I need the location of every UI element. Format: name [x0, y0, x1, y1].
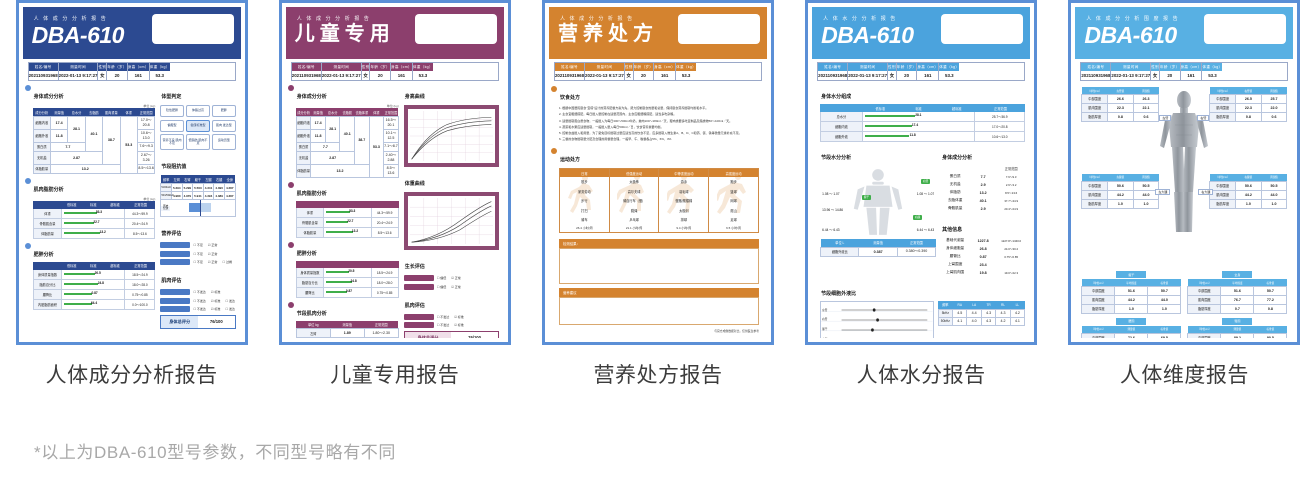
- bar-range: 18.5～24.9: [372, 270, 398, 275]
- bottom-left-title: 躯干: [1116, 271, 1146, 278]
- bottom-right-title: 全身: [1222, 271, 1252, 278]
- bar-label: 体脂肪量: [297, 228, 323, 237]
- bar-range: 0.0～100.0: [125, 302, 154, 307]
- ecw-ratio-chart: [821, 302, 932, 338]
- info-head-height: 身高（cm）: [391, 63, 412, 71]
- bar-row: 脂肪百分比24.818.0～28.0: [296, 278, 399, 288]
- table-row: 无机盐2.872.40～2.88: [296, 151, 398, 164]
- cell-weight: 53.3: [120, 116, 137, 173]
- cell-range: 17.0～20.8: [137, 116, 154, 129]
- bar-range: 20.4～24.9: [125, 221, 154, 226]
- col-1: 测量值: [330, 321, 364, 329]
- table-row: 50/250kHz 4.980 4.979 5.941 4.394 4.389 …: [161, 192, 235, 200]
- cell-value: 1.89: [330, 329, 364, 338]
- bar-row: 骨骼肌含量22.720.4～24.9: [33, 219, 156, 229]
- col-rl: 右腿: [214, 175, 225, 183]
- eval-row: ☐ 偏低☑ 正常: [404, 275, 499, 281]
- bar-label: 骨骼肌含量: [34, 219, 62, 228]
- cell-value: 26.8: [969, 245, 997, 253]
- cell-value: 7.7: [969, 173, 997, 181]
- cell-value: 0.87: [969, 253, 997, 261]
- col-0: （单位cm）: [1082, 87, 1108, 94]
- info-head-sex: 性别: [362, 63, 370, 71]
- bar-value: 22.7: [93, 220, 99, 224]
- info-head-name: 姓名/编号: [818, 63, 847, 71]
- info-head-name: 姓名/编号: [292, 63, 321, 71]
- eval-options[interactable]: ☐ 不足☑ 正常: [193, 252, 217, 256]
- section-title-nutrition-eval: 营养评估: [160, 231, 181, 237]
- left-arm-table: （单位cm）左臂值周围值 中部围度26.626.3 肌肉围度22.322.1 脂…: [1081, 87, 1159, 122]
- bar-range: 18.0～28.0: [372, 280, 398, 285]
- info-val-weight: 53.3: [939, 71, 959, 79]
- cell-label: 无机盐: [33, 151, 50, 164]
- table-row: 脂肪厚度0.80.6: [1210, 112, 1287, 121]
- eval-options[interactable]: ☐ 不足☑ 正常☐ 过剩: [193, 260, 232, 264]
- result-bar: 检测结果：: [559, 239, 759, 248]
- table-header-row: （单位cm）测量值标准值: [1188, 326, 1287, 333]
- bar-track: 64.4: [61, 300, 125, 309]
- eval-options[interactable]: ☐ 偏低☑ 正常: [437, 285, 461, 289]
- cell-v: 5.299: [182, 184, 193, 192]
- cell-range: 10.1～12.5: [384, 129, 399, 142]
- bar-value: 22.7: [347, 219, 353, 223]
- section-title-obesity: 肥胖分析: [33, 252, 54, 258]
- bar-col-2: 标准: [83, 262, 105, 270]
- bar-col-3: 超标准: [938, 104, 976, 112]
- cell-v1: 44.2: [1236, 190, 1262, 199]
- body-figure-3d: [1153, 89, 1215, 244]
- col-0: （单位cm）: [1188, 279, 1221, 286]
- water-bar-header: 低标准 标准 超标准 正常范围: [820, 104, 1025, 112]
- card1-logo-placeholder: [152, 14, 234, 44]
- report-card-body-water[interactable]: 人 体 水 分 分 析 报 告 DBA-610 姓名/编号20211093196…: [805, 0, 1037, 345]
- eval-row: ☐ 偏低☑ 正常: [404, 284, 499, 290]
- info-val-age: 20: [897, 71, 916, 79]
- info-head-weight: 体重（kg）: [1202, 63, 1222, 71]
- table-row: 中部围度72.669.5: [1082, 333, 1181, 338]
- section-title-composition-right: 身体成分分析: [941, 155, 972, 161]
- bar-row: 内脏脂肪面积64.40.0～100.0: [33, 300, 156, 310]
- exercise-item: 乒乓球: [610, 215, 659, 224]
- cell-lbm: 38.7: [355, 116, 370, 164]
- report-card-children[interactable]: 人 体 成 分 分 析 报 告 儿童专用 姓名/编号202110931968 测…: [279, 0, 511, 345]
- impedance-table-water: 频率RALATRRLLL 5kHz4.54.44.34.34.2 50kHz4.…: [938, 301, 1026, 326]
- right-arm-table: （单位cm）右臂值周围值 中部围度26.525.7 肌肉围度22.322.0 脂…: [1209, 87, 1287, 122]
- report-slot-2: 人 体 成 分 分 析 报 告 儿童专用 姓名/编号202110931968 测…: [263, 0, 526, 352]
- info-val-time: 2022-01-13 9:17:27: [848, 71, 887, 79]
- col-2: 标准值: [1148, 279, 1181, 286]
- exercise-item: 高尔夫球: [610, 187, 659, 196]
- bar-col-4: 正常范围: [126, 262, 155, 270]
- bar-track: 20.5: [61, 270, 125, 279]
- exercise-duration: 9.4 小时/周: [659, 224, 708, 232]
- cell-v2: 50.7: [1254, 286, 1287, 295]
- eval-options[interactable]: ☐ 不发达☑ 标准: [193, 290, 220, 294]
- advice-line: 4. 蔬菜和水果应适量摄取，一般摄入量入每日500ml／日，饮食营养素要均衡。: [559, 125, 759, 130]
- section-title-composition: 身体成分分析: [296, 94, 327, 100]
- children-obesity-header: [296, 261, 399, 268]
- cell-label: 脂肪厚度: [1082, 304, 1115, 313]
- bar-track: 53.3: [323, 208, 371, 217]
- col-0: （单位cm）: [1082, 174, 1108, 181]
- cell-label: 无机盐: [941, 181, 969, 189]
- col-0: 成分分析: [296, 108, 311, 116]
- table-row: 肌肉围度76.777.2: [1188, 295, 1287, 304]
- type-cell[interactable]: 隐性肥胖: [160, 105, 183, 117]
- bar-value: 0.87: [92, 291, 98, 295]
- cell-range: 16.5～20.1: [384, 116, 399, 129]
- col-2: 标准值: [1148, 326, 1181, 333]
- bar-label: 体重: [34, 209, 62, 218]
- cell-label: 去脂体重: [941, 197, 969, 205]
- type-cell[interactable]: 营养不良 肌肉不足: [160, 134, 183, 150]
- bar-track: 13.2: [61, 229, 125, 238]
- cell-range: 10.6～13.0: [137, 129, 154, 142]
- table-header-row: （单位cm）右腿值周围值: [1210, 174, 1287, 181]
- muscle-fat-bar-header: 低标准 标准 超标准 正常范围: [33, 201, 156, 209]
- col-4: 肌肉重量: [103, 108, 120, 116]
- bar-row: 身体质量指数20.518.5～24.9: [33, 270, 156, 280]
- info-val-height: 161: [1181, 71, 1202, 79]
- cell-v1: 51.6: [1221, 286, 1254, 295]
- bar-col-3: 超标准: [104, 262, 126, 270]
- caption-row: 人体成分分析报告 儿童专用报告 营养处方报告 人体水分报告 人体维度报告: [0, 352, 1316, 400]
- table-header-row: 单位 L测量值正常范围: [821, 239, 936, 247]
- col-1: 测量值: [50, 108, 67, 116]
- ecw-table: 单位 L测量值正常范围 细胞外液比0.3870.380～0.390: [820, 239, 936, 257]
- section-dot-diet: [551, 86, 557, 92]
- info-head-name: 姓名/编号: [555, 63, 584, 71]
- col-0: 频率: [938, 301, 952, 309]
- label-right-leg: 右大腿: [1198, 189, 1213, 195]
- cell-label: 细胞外液: [296, 129, 311, 142]
- table-row: 肌肉围度44.244.0: [1082, 190, 1159, 199]
- table-row: 体脂肪13.28.5～13.6: [941, 189, 1025, 197]
- cell-v1: 22.3: [1236, 103, 1262, 112]
- section-title-muscle-fat: 肌肉脂肪分析: [296, 191, 327, 197]
- cell-v: 4.287: [224, 184, 235, 192]
- section-dot-segment-muscle: [288, 302, 294, 308]
- eval-tag: [160, 251, 190, 257]
- info-val-name: 202110931968: [1081, 71, 1110, 79]
- section-title-muscle-eval: 肌肉评估: [404, 303, 425, 309]
- bar-range: 44.3～59.9: [372, 210, 398, 215]
- trunk-table: （单位cm）平均围度标准值 中部围度51.650.7 肌肉围度44.244.0 …: [1081, 279, 1181, 314]
- bar-col-1: 低标准: [861, 104, 899, 112]
- type-cell[interactable]: 体脂过高: [186, 105, 209, 117]
- cell-label: 蛋白质: [296, 142, 311, 151]
- type-cell[interactable]: 运动员型: [212, 134, 235, 150]
- table-row: 脂肪厚度0.70.8: [1188, 304, 1287, 313]
- cell-v1: 1.0: [1108, 199, 1134, 208]
- col-1: 测量值: [1221, 326, 1254, 333]
- info-val-height: 161: [391, 71, 412, 79]
- bar-col-1: 低标准: [61, 201, 83, 209]
- col-3: TR: [981, 301, 995, 309]
- type-cell-selected[interactable]: 健康标准型: [186, 120, 209, 132]
- result-box: [559, 248, 759, 284]
- value-right-leg: 6.44 ～ 6.43: [917, 227, 934, 232]
- cell-label: 上臂肌肉围: [941, 269, 969, 277]
- bar-range: 0.75～0.85: [372, 290, 398, 295]
- cell-value: 11.8: [50, 129, 67, 142]
- cell-v1: 44.2: [1108, 190, 1134, 199]
- cell-v2: 90.5: [1254, 333, 1287, 338]
- bar-range: 44.3～59.9: [125, 211, 154, 216]
- type-cell[interactable]: 偏瘦型: [160, 120, 183, 132]
- bar-value: 11.8: [910, 133, 916, 137]
- cell-water: 28.1: [68, 116, 85, 142]
- card3-header: 人 体 成 分 分 析 报 告 营养处方: [549, 7, 767, 59]
- info-head-time: 测量时间: [585, 63, 624, 71]
- col-0: 单位 L: [821, 239, 859, 247]
- cell-label: 脂肪厚度: [1210, 112, 1236, 121]
- exercise-column: 中等强度运动 游泳 羽毛球 慢跑/爬楼梯 太极剑 排球 9.4 小时/周: [659, 169, 709, 232]
- table-header-row: （单位cm）左臂值周围值: [1082, 87, 1159, 94]
- suggest-bar: 营养建议: [559, 288, 759, 297]
- cell-range: 2.6～3.2: [997, 181, 1025, 189]
- col-1: 平均围度: [1115, 279, 1148, 286]
- col-6: 正常范围: [137, 108, 154, 116]
- exercise-item: 羽毛球: [659, 187, 708, 196]
- cell-label: 体脂肪: [941, 189, 969, 197]
- bar-value: 13.2: [352, 229, 358, 233]
- cell-v2: 44.0: [1148, 295, 1181, 304]
- col-1: RA: [953, 301, 967, 309]
- col-2: 周围值: [1261, 174, 1287, 181]
- type-cell[interactable]: 肌肉 发达型: [212, 120, 235, 132]
- info-val-weight: 53.3: [150, 71, 170, 79]
- body-type-grid: 隐性肥胖 体脂过高 肥胖 偏瘦型 健康标准型 肌肉 发达型 营养不良 肌肉不足 …: [160, 105, 235, 150]
- table-header-row: 成分分析 测量值 总水分 去脂肪 肌肉重量 体重 正常范围: [33, 108, 155, 116]
- card5-header: 人 体 成 分 分 析 围 度 报 告 DBA-610: [1075, 7, 1293, 59]
- bar-value: 53.3: [349, 209, 355, 213]
- cell-value: 2.87: [311, 151, 355, 164]
- table-header-row: （单位cm）平均围度标准值: [1188, 279, 1287, 286]
- cell-label: 脂肪厚度: [1188, 304, 1221, 313]
- section-title-other-right: 其他信息: [941, 227, 962, 233]
- col-1: 平均围度: [1221, 279, 1254, 286]
- bar-track: 24.8: [61, 280, 125, 289]
- cell-range: 20.4～24.9: [997, 205, 1025, 213]
- bar-col-0: [33, 262, 61, 270]
- eval-options[interactable]: ☐ 不发达☑ 标准☐ 发达: [193, 299, 235, 303]
- section-dot-exercise: [551, 148, 557, 154]
- table-row: 细胞内液17.428.140.138.753.316.5～20.1: [296, 116, 398, 129]
- cell-range: 8.5～13.6: [137, 164, 154, 173]
- cell-v1: 72.6: [1115, 333, 1148, 338]
- type-cell[interactable]: 肥胖: [212, 105, 235, 117]
- report-slot-3: 人 体 成 分 分 析 报 告 营养处方 姓名/编号202110931968 测…: [526, 0, 789, 352]
- info-head-sex: 性别: [625, 63, 633, 71]
- cell-value: 40.1: [969, 197, 997, 205]
- table-row: 中部围度89.290.5: [1188, 333, 1287, 338]
- cell-label: 无机盐: [296, 151, 311, 164]
- table-row: 无机盐2.92.6～3.2: [941, 181, 1025, 189]
- caption-2: 儿童专用报告: [263, 352, 526, 400]
- total-score-box: 身体总评分 76/100: [160, 315, 235, 329]
- table-header-row: 单位 kg测量值正常范围: [296, 321, 398, 329]
- bar-range: 10.6～13.0: [975, 134, 1024, 139]
- table-row: 上臂围度23.4: [941, 261, 1025, 269]
- cell-range: 2.40～2.88: [384, 151, 399, 164]
- info-val-height: 161: [128, 71, 149, 79]
- info-val-age: 20: [107, 71, 126, 79]
- bar-row: 细胞内液17.417.0～20.8: [820, 122, 1025, 132]
- caption-3: 营养处方报告: [526, 352, 789, 400]
- bar-row: 体重53.344.3～59.9: [33, 209, 156, 219]
- cell-label: 左臂: [296, 329, 330, 338]
- eval-options[interactable]: ☐ 不足☑ 正常: [193, 243, 217, 247]
- col-3: 去脂肪: [85, 108, 102, 116]
- bar-value: 24.8: [351, 279, 357, 283]
- eval-row: ☐ 不发达☑ 标准☐ 发达: [160, 306, 235, 312]
- table-row: 脂肪厚度1.01.0: [1082, 304, 1181, 313]
- cell-label: 肌肉围度: [1082, 190, 1108, 199]
- body-silhouette-water: 右臂 1.08 ～ 1.07 躯干 13.96 ～ 14.86 右腿 6.44 …: [820, 165, 936, 239]
- col-1: 测量值: [311, 108, 326, 116]
- exercise-item: 排球: [659, 215, 708, 224]
- table-row: 左臂1.891.80～2.30: [296, 329, 398, 338]
- cell-range: 37.7～44.9: [997, 197, 1025, 205]
- card3-info-strip: 姓名/编号202110931968 测量时间2022-01-13 9:17:27…: [554, 62, 762, 81]
- cell-weight: 53.3: [369, 116, 384, 177]
- exercise-column: 低强度运动 太极拳 高尔夫球 骑自行车（慢） 跳绳 乒乓球 21.1 小时/周: [610, 169, 660, 232]
- info-val-weight: 53.3: [1202, 71, 1222, 79]
- cell-v1: 1.0: [1115, 304, 1148, 313]
- col-ra: 右臂: [182, 175, 193, 183]
- table-header-row: 频率RALATRRLLL: [938, 301, 1025, 309]
- cell-v2: 69.5: [1148, 333, 1181, 338]
- cell-value: 19.8: [969, 269, 997, 277]
- caption-5: 人体维度报告: [1053, 352, 1316, 400]
- bar-value: 17.4: [912, 123, 918, 127]
- eval-options[interactable]: ☐ 不发达☑ 标准: [437, 323, 464, 327]
- cell-label: 细胞外液: [33, 129, 50, 142]
- section-dot-obesity: [288, 242, 294, 248]
- cell-v2: 26.3: [1133, 94, 1159, 103]
- eval-options[interactable]: ☐ 偏低☑ 正常: [437, 276, 461, 280]
- bar-range: 18.0～28.0: [125, 282, 154, 287]
- section-dot-muscle-fat: [25, 178, 31, 184]
- cell-label: 中部围度: [1188, 333, 1221, 338]
- cell-label: 中部围度: [1082, 181, 1108, 190]
- table-header-row: 正常范围: [941, 165, 1025, 173]
- cell-label: 肌肉围度: [1210, 103, 1236, 112]
- report-card-body-composition[interactable]: 人 体 成 分 分 析 报 告 DBA-610 姓名/编号20211093196…: [16, 0, 248, 345]
- impedance-table: 频率 左臂 右臂 躯干 左腿 右腿 全身 5/20kHz: [160, 175, 235, 200]
- table-row: 脂肪厚度0.80.6: [1082, 112, 1159, 121]
- cell-freq: 50kHz: [938, 317, 952, 325]
- col-2: 总水分: [68, 108, 85, 116]
- col-1: 测量值: [1115, 326, 1148, 333]
- cell-v1: 0.8: [1108, 112, 1134, 121]
- table-row: 脂肪厚度1.01.0: [1210, 199, 1287, 208]
- cell-label: 腰臀比: [941, 253, 969, 261]
- col-4: 去脂体重: [355, 108, 370, 116]
- exercise-item: 网球: [709, 196, 758, 205]
- exercise-item: 打扫: [560, 205, 609, 214]
- eval-row: ☐ 不足☑ 正常: [160, 242, 235, 248]
- report-card-dimension[interactable]: 人 体 成 分 分 析 围 度 报 告 DBA-610 姓名/编号2021109…: [1068, 0, 1300, 345]
- eval-options[interactable]: ☐ 不发达☑ 标准: [437, 315, 464, 319]
- eval-tag: [160, 242, 190, 248]
- table-header-row: （单位cm）左腿值周围值: [1082, 174, 1159, 181]
- exercise-item: 太极拳: [610, 177, 659, 186]
- card4-logo-placeholder: [941, 14, 1023, 44]
- exercise-item: 爬山: [709, 205, 758, 214]
- section-title-impedance: 节段阻抗值: [160, 164, 186, 170]
- section-dot-composition: [288, 85, 294, 91]
- section-title-composition: 身体成分分析: [33, 94, 64, 100]
- total-score-box: 身体总评分 76/100: [404, 331, 499, 338]
- bar-label: 内脏脂肪面积: [34, 300, 62, 309]
- info-val-sex: 女: [888, 71, 896, 80]
- total-score-value: 76/100: [198, 316, 235, 328]
- table-row: 肌肉围度22.322.1: [1082, 103, 1159, 112]
- type-cell[interactable]: 低脂肪 肌肉不足: [186, 134, 209, 150]
- advice-line: 2. 主食宜粗细搭配，每日摄入量控制在适量范围内，主食应粗细粮搭配，适当多吃杂粮…: [559, 112, 759, 117]
- table-row: 50kHz4.14.04.34.24.1: [938, 317, 1025, 325]
- eval-options[interactable]: ☐ 不发达☑ 标准☐ 发达: [193, 307, 235, 311]
- info-head-sex: 性别: [98, 63, 106, 71]
- cell-v1: 76.7: [1221, 295, 1254, 304]
- table-header-row: 频率 左臂 右臂 躯干 左腿 右腿 全身: [161, 175, 235, 183]
- table-row: 中部围度26.525.7: [1210, 94, 1287, 103]
- info-val-height: 161: [654, 71, 675, 79]
- report-card-nutrition[interactable]: 人 体 成 分 分 析 报 告 营养处方 姓名/编号202110931968 测…: [542, 0, 774, 345]
- cell-v2: 1.0: [1133, 199, 1159, 208]
- table-row: 中部围度26.626.3: [1082, 94, 1159, 103]
- cell-range: 24.0～30.2: [997, 245, 1025, 253]
- cell-v: 4.980: [171, 192, 182, 200]
- bar-label: 细胞外液: [821, 132, 862, 141]
- section-title-growth-height: 身高曲线: [404, 94, 425, 100]
- bar-value: 20.5: [348, 269, 354, 273]
- info-val-sex: 女: [98, 71, 106, 80]
- info-head-weight: 体重（kg）: [939, 63, 959, 71]
- cell-v1: 0.7: [1221, 304, 1254, 313]
- bar-col-0: [820, 104, 861, 112]
- cell-label: 蛋白质: [33, 142, 50, 151]
- info-head-height: 身高（cm）: [654, 63, 675, 71]
- eval-row: ☐ 不发达☑ 标准: [404, 322, 499, 328]
- cell-label: 肌肉围度: [1210, 190, 1236, 199]
- bar-label: 细胞内液: [821, 122, 862, 131]
- bar-row: 骨骼肌含量22.720.4～24.9: [296, 218, 399, 228]
- bar-track: 0.87: [323, 288, 371, 297]
- col-1: 左臂值: [1108, 87, 1134, 94]
- value-trunk: 13.96 ～ 14.86: [822, 207, 843, 212]
- cell-v1: 44.2: [1115, 295, 1148, 304]
- table-header-row: （单位cm）平均围度标准值: [1082, 279, 1181, 286]
- exercise-item: 游泳: [659, 177, 708, 186]
- cell-v: 4.2: [996, 317, 1010, 325]
- bar-track: 0.87: [61, 290, 125, 299]
- bar-value: 24.8: [98, 281, 104, 285]
- cell-v1: 22.3: [1108, 103, 1134, 112]
- col-2: 正常范围: [897, 239, 935, 247]
- col-0: （单位cm）: [1210, 174, 1236, 181]
- exercise-item: 散步: [560, 177, 609, 186]
- table-row: 肌肉围度44.244.0: [1210, 190, 1287, 199]
- eval-tag: [160, 298, 190, 304]
- table-row: 身体细胞量26.824.0～30.2: [941, 245, 1025, 253]
- card5-info-strip: 姓名/编号202110931968 测量时间2022-01-13 9:17:27…: [1080, 62, 1288, 81]
- bar-track: 53.3: [61, 209, 125, 218]
- info-val-age: 20: [634, 71, 653, 79]
- cell-label: 中部围度: [1188, 286, 1221, 295]
